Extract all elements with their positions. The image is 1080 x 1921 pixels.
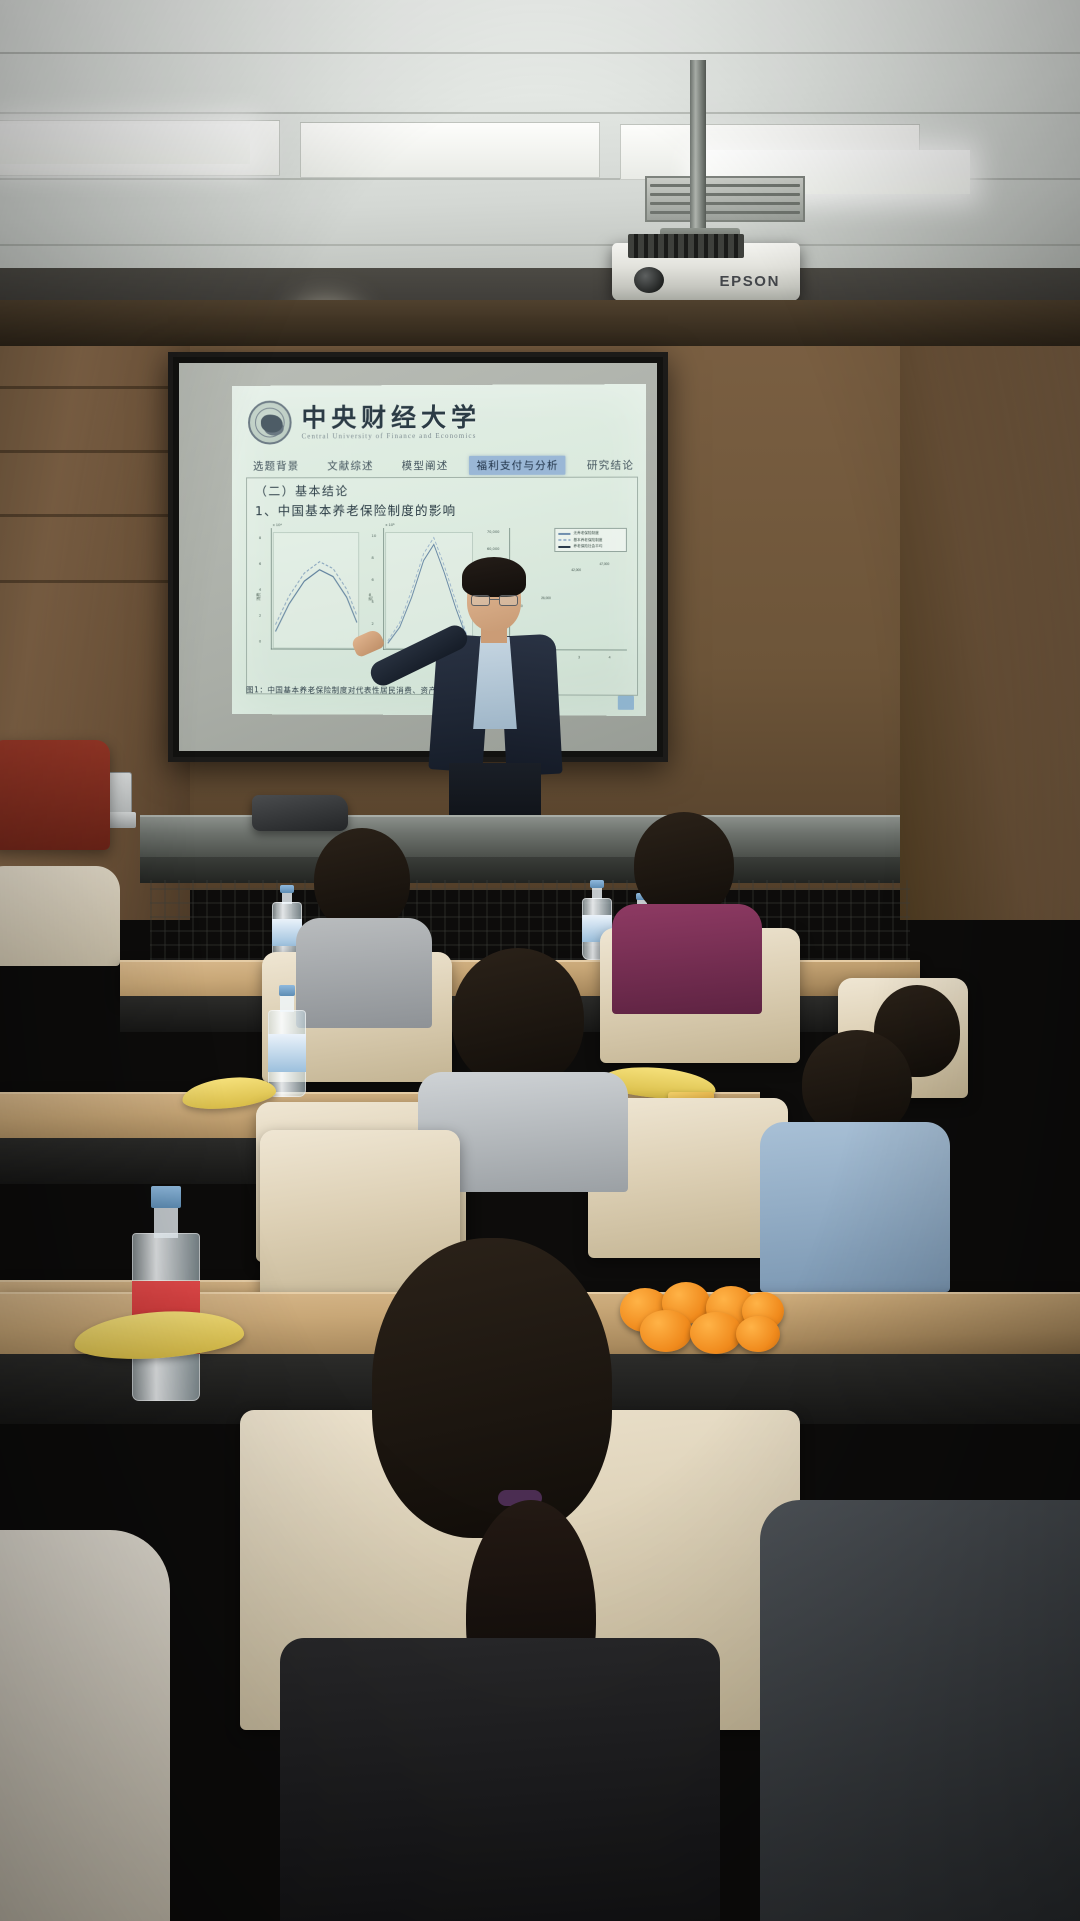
student-foreground-left (0, 1530, 170, 1921)
chart2-ytick: 2 (372, 622, 374, 626)
student-torso (612, 904, 762, 1014)
chart1-series-lines (274, 533, 359, 648)
student (0, 840, 120, 960)
university-name-cn: 中央财经大学 (302, 404, 482, 430)
presenter-hair (462, 557, 526, 597)
student-torso (0, 1530, 170, 1921)
student (740, 1030, 920, 1270)
student-torso (296, 918, 432, 1028)
chart1-exponent: x 10⁴ (273, 522, 282, 527)
chart1-ytick: 2 (259, 614, 261, 618)
chart2-ytick: 8 (372, 556, 374, 560)
projector-brand-label: EPSON (719, 273, 780, 290)
chart3-ytick: 70,000 (487, 530, 500, 534)
student-foreground (330, 1238, 750, 1921)
student-torso (760, 1500, 1080, 1921)
tab-background[interactable]: 选题背景 (246, 456, 306, 475)
chart2-ytick: 6 (372, 578, 374, 582)
student-foreground-right (760, 1500, 1080, 1921)
chart1-x-axis (271, 649, 362, 650)
chart3-legend: 无养老保险制度 基本养老保险制度 养老保险社会平均 (554, 528, 627, 552)
water-bottle (132, 1186, 200, 1401)
water-bottle (268, 985, 306, 1097)
presenter-glasses-icon (471, 595, 518, 606)
student-torso (760, 1122, 950, 1292)
tab-conclusions[interactable]: 研究结论 (580, 455, 641, 474)
legend-item: 养老保险社会平均 (558, 544, 623, 549)
chart3-ytick: 60,000 (487, 547, 500, 551)
chart1-ytick: 0 (259, 640, 261, 644)
tab-model-description[interactable]: 模型阐述 (395, 456, 456, 475)
slide-heading-item: 1、中国基本养老保险制度的影响 (255, 500, 457, 519)
student (300, 828, 420, 1008)
legend-item: 无养老保险制度 (558, 531, 623, 536)
slide-header: 中央财经大学 Central University of Finance and… (232, 392, 646, 451)
tab-literature-review[interactable]: 文献综述 (320, 456, 381, 475)
legend-label: 基本养老保险制度 (573, 537, 602, 542)
chart2-ytick: 10 (372, 534, 377, 538)
chart1-y-axis (271, 528, 272, 649)
chart1-ytick: 4 (259, 588, 261, 592)
projector-vent-grille (628, 234, 744, 258)
student (430, 948, 610, 1158)
student-head (452, 948, 584, 1088)
university-seal-icon (248, 401, 292, 445)
right-wall (900, 330, 1080, 920)
chart2-exponent: x 10⁵ (385, 522, 394, 527)
chart1-ylabel: 消费 (256, 593, 262, 601)
chair (0, 740, 110, 850)
legend-label: 无养老保险制度 (573, 531, 598, 536)
legend-swatch-icon (558, 532, 570, 534)
legend-swatch-icon (558, 545, 570, 547)
chart1-plot-area (273, 532, 360, 649)
student-head (314, 828, 410, 932)
projector-lens-icon (634, 267, 664, 293)
chart1-ytick: 8 (259, 536, 261, 540)
student-torso (280, 1638, 720, 1921)
slide-heading-section: （二）基本结论 (255, 482, 349, 499)
legend-label: 养老保险社会平均 (573, 544, 602, 549)
student-head (372, 1238, 612, 1538)
tab-welfare-analysis[interactable]: 福利支付与分析 (469, 456, 565, 475)
projector-mount-pole (690, 60, 706, 235)
chart1-ytick: 6 (259, 562, 261, 566)
presenter (415, 555, 575, 830)
shoulder-bag (252, 795, 348, 831)
legend-item: 基本养老保险制度 (558, 537, 623, 542)
projector: EPSON (612, 243, 800, 301)
chart3-xtick: 3 (578, 655, 580, 659)
legend-swatch-icon (558, 539, 570, 541)
student-torso (0, 866, 120, 966)
ac-vent (645, 176, 805, 222)
chart-consumption: x 10⁴ 8 6 4 (257, 522, 366, 672)
chart2-y-axis (384, 528, 385, 650)
wall-top-trim (0, 300, 1080, 346)
student-head (634, 812, 734, 918)
student (622, 812, 748, 992)
ceiling-light-strip (0, 124, 250, 164)
chart3-xtick: 4 (609, 655, 611, 659)
slide-tab-bar[interactable]: 选题背景 文献综述 模型阐述 福利支付与分析 研究结论 (246, 454, 638, 476)
lecture-hall-scene: EPSON 中央财经大学 Central University of Finan… (0, 0, 1080, 1921)
university-name-en: Central University of Finance and Econom… (302, 431, 482, 440)
slide-page-marker (618, 696, 634, 710)
bar-data-label: 47,000 (599, 562, 609, 566)
chart2-ylabel: 资产 (369, 593, 375, 601)
